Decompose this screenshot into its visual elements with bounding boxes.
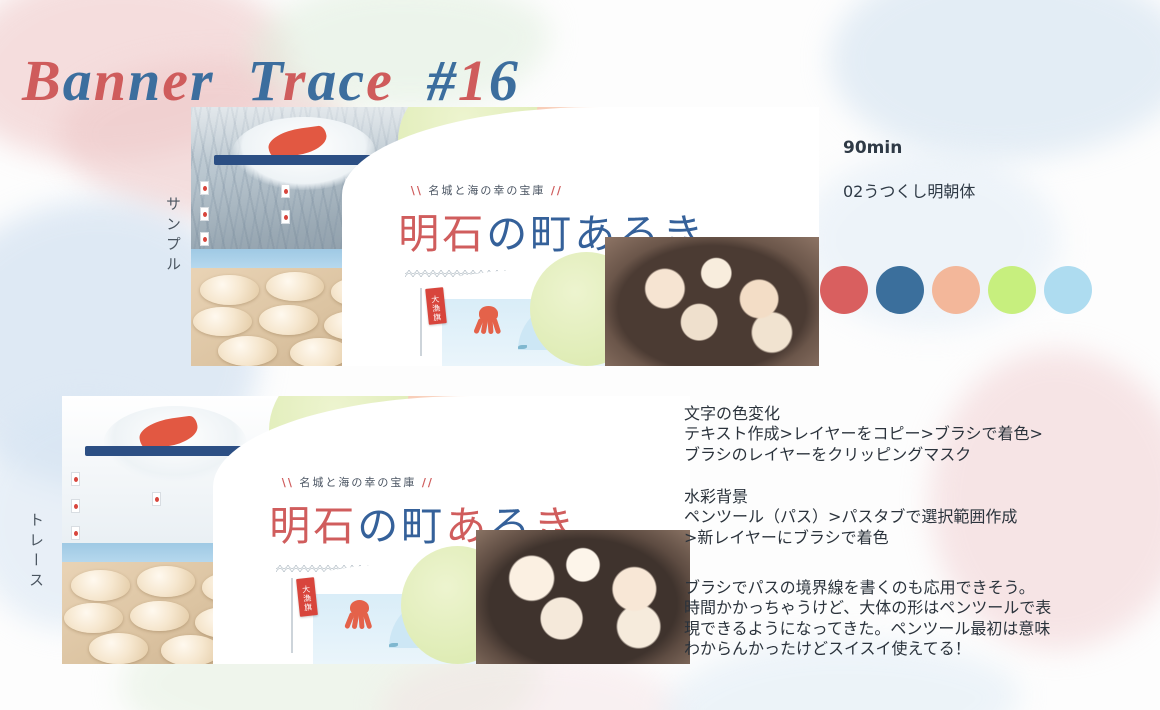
note-watercolor-background: 水彩背景 ペンツール（パス）>パスタブで選択範囲作成 >新レイヤーにブラシで着色 (684, 487, 1017, 548)
title-char-14 (410, 48, 427, 113)
small-fish-icon (389, 643, 398, 647)
akashiyaki-ball (161, 635, 220, 664)
font-name-label: 02うつくし明朝体 (843, 178, 975, 202)
arcade-flag-icon (71, 472, 80, 486)
akashiyaki-ball (218, 336, 277, 366)
watercolor-blob-blue-top-right (830, 0, 1160, 160)
banner-title-akashi: 明石 (269, 502, 357, 550)
page-title: Banner Trace #16 (22, 47, 520, 114)
octopus-icon (345, 600, 375, 630)
akashiyaki-ball (266, 272, 325, 302)
arcade-flag-icon (152, 492, 161, 506)
akashiyaki-ball (130, 601, 189, 632)
banner-title-nomachi: の町 (486, 210, 574, 258)
note-reflection: ブラシでパスの境界線を書くのも応用できそう。 時間かかっちゃうけど、大体の形はペ… (684, 578, 1051, 660)
sushi-photo (476, 530, 690, 664)
tairyobata-text: 大漁旗 (300, 585, 314, 613)
akashiyaki-ball (259, 305, 318, 335)
color-swatch-light-blue (1044, 266, 1092, 314)
note-text-color-change: 文字の色変化 テキスト作成>レイヤーをコピー>ブラシで着色> ブラシのレイヤーを… (684, 404, 1043, 465)
title-char-5: r (190, 48, 215, 113)
flag-pole (291, 578, 293, 653)
tagline-slash-left: \\ (411, 184, 423, 197)
arcade-flag-icon (281, 210, 290, 224)
title-char-16: 1 (458, 48, 489, 113)
tairyobata-flag: 大漁旗 (296, 577, 318, 617)
arcade-flag-icon (200, 181, 209, 195)
title-char-11: c (338, 48, 366, 113)
title-char-4: e (162, 48, 190, 113)
color-swatch-red (820, 266, 868, 314)
title-char-6 (215, 48, 232, 113)
title-char-12: e (366, 48, 394, 113)
title-char-2: n (94, 48, 128, 113)
banner-tagline: \\ 名城と海の幸の宝庫 // (282, 474, 434, 490)
banner-sample-image: 大漁 \\ 名城と海の幸の宝庫 // 明石の町あるき Famous castle… (191, 107, 819, 366)
title-char-0: B (22, 48, 63, 113)
title-char-8: T (248, 48, 283, 113)
banner-title-nomachi: の町 (357, 502, 445, 550)
title-char-15: # (427, 48, 458, 113)
color-swatch-blue (876, 266, 924, 314)
tagline-text: 名城と海の幸の宝庫 (428, 184, 545, 197)
arcade-flag-icon (281, 184, 290, 198)
title-char-3: n (128, 48, 162, 113)
octopus-icon (474, 306, 504, 334)
color-swatch-peach (932, 266, 980, 314)
akashiyaki-ball (193, 307, 252, 337)
sushi-photo (605, 237, 819, 367)
title-char-1: a (63, 48, 94, 113)
arcade-flag-icon (200, 232, 209, 246)
arcade-flag-icon (200, 207, 209, 221)
color-swatch-light-green (988, 266, 1036, 314)
akashiyaki-ball (89, 633, 148, 664)
banner-trace-image: 大漁 \\ 名城と海の幸の宝庫 // 明石の町あるき Famous castle… (62, 396, 690, 664)
akashiyaki-ball (200, 275, 259, 305)
title-char-10: a (307, 48, 338, 113)
tairyobata-flag: 大漁旗 (425, 287, 447, 325)
tagline-slash-right: // (422, 476, 434, 489)
tairyobata-text: 大漁旗 (429, 295, 443, 323)
tagline-slash-left: \\ (282, 476, 294, 489)
tagline-text: 名城と海の幸の宝庫 (299, 476, 416, 489)
label-sample: サンプル (163, 196, 184, 276)
arcade-flag-icon (71, 526, 80, 540)
title-char-17: 6 (489, 48, 520, 113)
title-char-13 (394, 48, 411, 113)
akashiyaki-ball (71, 570, 130, 601)
banner-tagline: \\ 名城と海の幸の宝庫 // (411, 182, 563, 198)
color-palette (820, 266, 1092, 314)
akashiyaki-ball (64, 603, 123, 634)
akashiyaki-ball (137, 566, 196, 597)
tagline-slash-right: // (551, 184, 563, 197)
flag-pole (420, 288, 422, 355)
duration-label: 90min (843, 138, 902, 158)
arcade-flag-icon (71, 499, 80, 513)
title-char-9: r (283, 48, 308, 113)
akashiyaki-ball (290, 338, 349, 366)
label-trace: トレース (26, 512, 47, 592)
title-char-7 (231, 48, 248, 113)
banner-title-akashi: 明石 (398, 210, 486, 258)
